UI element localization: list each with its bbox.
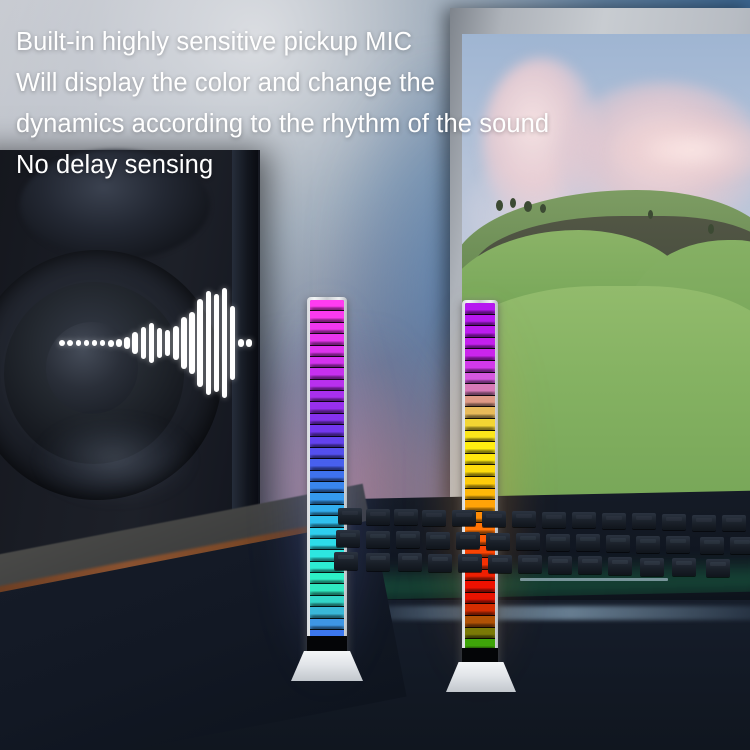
keycap-legend [402, 556, 418, 560]
led-segment [465, 373, 495, 385]
keycap-legend [400, 534, 416, 538]
keycap-legend [580, 537, 596, 541]
wallpaper-tree [496, 200, 503, 211]
keycap-legend [704, 540, 720, 544]
keycap-legend [370, 534, 386, 538]
keycap-legend [370, 512, 386, 516]
waveform-bar [84, 340, 89, 346]
led-segment [465, 442, 495, 454]
keyboard-key [692, 515, 716, 531]
wallpaper-tree [540, 204, 546, 213]
led-segment [310, 459, 344, 470]
light-bar-left-frame [307, 297, 347, 666]
led-segment [465, 431, 495, 443]
waveform-bar [189, 312, 194, 374]
led-segment [310, 425, 344, 436]
keycap-legend [552, 559, 568, 563]
led-segment [465, 454, 495, 466]
waveform-bar [157, 328, 162, 358]
light-bar-right-segments [465, 303, 495, 673]
led-segment [310, 471, 344, 482]
led-segment [465, 489, 495, 501]
wallpaper-hill-near [462, 286, 750, 500]
keycap-legend [606, 516, 622, 520]
led-segment [465, 628, 495, 640]
waveform-bar [181, 317, 186, 369]
keycap-legend [520, 536, 536, 540]
keycap-legend [486, 514, 502, 518]
led-segment [465, 303, 495, 315]
waveform-bar [165, 330, 170, 356]
light-bar-right-frame [462, 300, 498, 676]
keycap-legend [550, 537, 566, 541]
led-segment [310, 357, 344, 368]
keycap-legend [734, 540, 750, 544]
wallpaper-tree [524, 201, 532, 212]
waveform-bar [197, 299, 202, 387]
led-segment [465, 465, 495, 477]
keycap-legend [432, 557, 448, 561]
wallpaper-tree [708, 224, 714, 234]
waveform-bar [76, 340, 81, 346]
keycap-legend [338, 555, 354, 559]
led-segment [310, 493, 344, 504]
led-segment [465, 604, 495, 616]
waveform-bar [214, 294, 219, 392]
keycap-legend [426, 513, 442, 517]
waveform-bar [132, 332, 137, 354]
keycap-legend [612, 560, 628, 564]
headline-line-4: No delay sensing [16, 145, 740, 186]
waveform-bar [238, 339, 243, 347]
keycap-legend [676, 561, 692, 565]
keycap-legend [726, 518, 742, 522]
led-segment [310, 300, 344, 311]
headline-text-block: Built-in highly sensitive pickup MIC Wil… [16, 22, 740, 186]
keycap-legend [516, 514, 532, 518]
led-segment [465, 384, 495, 396]
led-segment [310, 323, 344, 334]
waveform-bar [108, 340, 113, 347]
waveform-bar [206, 291, 211, 395]
keycap-legend [430, 535, 446, 539]
led-segment [310, 414, 344, 425]
waveform-bar [67, 340, 72, 346]
keycap-legend [492, 558, 508, 562]
headline-line-3: dynamics according to the rhythm of the … [16, 104, 740, 145]
led-segment [310, 619, 344, 630]
led-segment [465, 419, 495, 431]
wallpaper-tree [648, 210, 653, 219]
led-segment [310, 334, 344, 345]
wallpaper-tree [510, 198, 516, 208]
keycap-legend [636, 516, 652, 520]
waveform-bar [149, 323, 154, 363]
waveform-bar [59, 340, 64, 346]
keycap-legend [462, 557, 478, 561]
sound-wave-graphic [58, 288, 253, 398]
waveform-bar [141, 327, 146, 359]
led-segment [310, 402, 344, 413]
led-segment [310, 391, 344, 402]
keycap-legend [640, 539, 656, 543]
keycap-legend [398, 512, 414, 516]
led-segment [310, 596, 344, 607]
led-segment [310, 573, 344, 584]
keycap-legend [670, 539, 686, 543]
desk-light-reflection [340, 606, 750, 620]
led-segment [310, 346, 344, 357]
keycap-legend [696, 518, 712, 522]
led-segment [310, 311, 344, 322]
headline-line-2: Will display the color and change the [16, 63, 740, 104]
waveform-bar [173, 326, 178, 360]
light-bar-left-segments [310, 300, 344, 663]
led-segment [465, 616, 495, 628]
led-segment [465, 326, 495, 338]
led-segment [465, 593, 495, 605]
waveform-bar [124, 337, 129, 349]
waveform-bar [92, 340, 97, 346]
keycap-legend [644, 561, 660, 565]
keycap-legend [342, 511, 358, 515]
keycap-legend [370, 556, 386, 560]
led-segment [310, 607, 344, 618]
rgb-light-bar-left[interactable] [307, 297, 347, 666]
keycap-legend [522, 558, 538, 562]
led-segment [465, 581, 495, 593]
keycap-legend [582, 559, 598, 563]
led-segment [465, 315, 495, 327]
product-image-scene: Built-in highly sensitive pickup MIC Wil… [0, 0, 750, 750]
keycap-legend [546, 515, 562, 519]
led-segment [310, 482, 344, 493]
led-segment [310, 448, 344, 459]
led-segment [465, 361, 495, 373]
keycap-legend [456, 513, 472, 517]
led-segment [465, 477, 495, 489]
keycap-legend [610, 538, 626, 542]
led-segment [465, 407, 495, 419]
keyboard-spacebar [520, 578, 668, 581]
keycap-legend [460, 535, 476, 539]
led-segment [310, 368, 344, 379]
waveform-bar [222, 288, 227, 398]
led-segment [465, 338, 495, 350]
rgb-light-bar-right[interactable] [462, 300, 498, 676]
led-segment [310, 584, 344, 595]
waveform-bar [246, 339, 251, 347]
led-segment [310, 437, 344, 448]
keycap-legend [340, 533, 356, 537]
headline-line-1: Built-in highly sensitive pickup MIC [16, 22, 740, 63]
keycap-legend [490, 536, 506, 540]
keycap-legend [576, 515, 592, 519]
keycap-legend [710, 562, 726, 566]
waveform-bar [116, 339, 121, 347]
led-segment [465, 396, 495, 408]
keycap-legend [666, 517, 682, 521]
waveform-bar [230, 306, 235, 380]
speaker-highlight [40, 420, 190, 500]
led-segment [465, 349, 495, 361]
led-segment [310, 380, 344, 391]
waveform-bar [100, 340, 105, 346]
